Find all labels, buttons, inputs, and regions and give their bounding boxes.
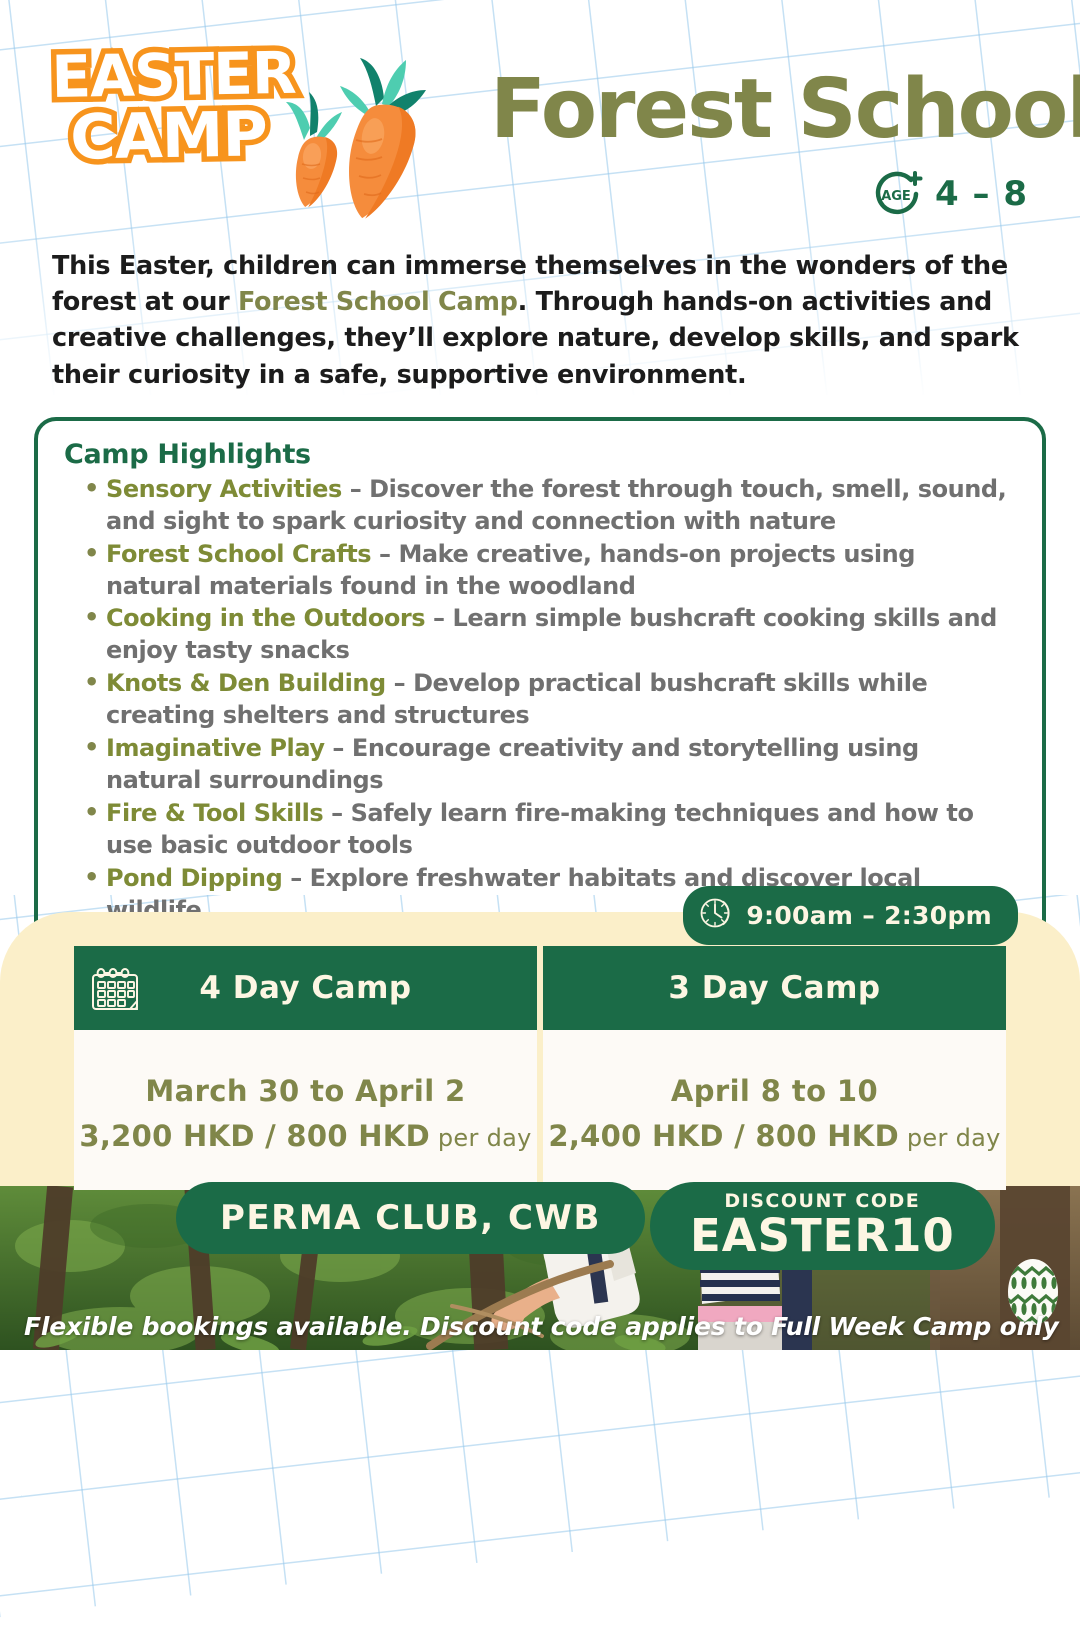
highlight-term: Pond Dipping	[106, 864, 282, 892]
pricing-column-4-day: 4 Day Camp March 30 to April 2 3,200 HKD…	[74, 946, 537, 1190]
list-item: Imaginative Play – Encourage creativity …	[64, 733, 1016, 797]
schedule-time-badge: 9:00am – 2:30pm	[683, 886, 1018, 945]
location-badge[interactable]: PERMA CLUB, CWB	[176, 1182, 645, 1254]
pricing-column-3-day: 3 Day Camp April 8 to 10 2,400 HKD / 800…	[543, 946, 1006, 1190]
easter-camp-logo: EASTER CAMP	[51, 46, 285, 167]
pricing-dates: April 8 to 10	[671, 1074, 878, 1108]
pricing-amount: 3,200 HKD / 800 HKD per day	[79, 1119, 531, 1153]
pricing-per-day: per day	[899, 1124, 1001, 1152]
pricing-amount: 2,400 HKD / 800 HKD per day	[548, 1119, 1000, 1153]
highlight-term: Cooking in the Outdoors	[106, 604, 425, 632]
pricing-dates: March 30 to April 2	[145, 1074, 465, 1108]
intro-paragraph: This Easter, children can immerse themse…	[52, 248, 1028, 393]
pricing-body-cell: April 8 to 10 2,400 HKD / 800 HKD per da…	[543, 1030, 1006, 1190]
clock-icon	[699, 895, 735, 936]
list-item: Sensory Activities – Discover the forest…	[64, 474, 1016, 538]
poster-header: EASTER CAMP	[0, 0, 1080, 240]
age-ring-icon: AGE	[871, 168, 923, 220]
schedule-time-label: 9:00am – 2:30pm	[746, 901, 992, 930]
highlight-term: Knots & Den Building	[106, 669, 386, 697]
carrots-illustration	[272, 48, 442, 228]
pricing-amount-value: 2,400 HKD / 800 HKD	[548, 1119, 899, 1153]
pricing-header-label: 3 Day Camp	[668, 970, 880, 1006]
highlight-term: Forest School Crafts	[106, 540, 371, 568]
calendar-icon	[86, 966, 144, 1019]
camp-highlights-title: Camp Highlights	[64, 439, 1016, 470]
pricing-body-cell: March 30 to April 2 3,200 HKD / 800 HKD …	[74, 1030, 537, 1190]
footer-note: Flexible bookings available. Discount co…	[24, 1312, 1059, 1341]
camp-highlights-box: Camp Highlights Sensory Activities – Dis…	[34, 417, 1046, 954]
logo-line-easter: EASTER	[51, 46, 284, 105]
pricing-header-cell: 4 Day Camp	[74, 946, 537, 1030]
camp-highlights-list: Sensory Activities – Discover the forest…	[64, 474, 1016, 927]
pricing-per-day: per day	[430, 1124, 532, 1152]
pricing-table: 4 Day Camp March 30 to April 2 3,200 HKD…	[74, 946, 1006, 1190]
pricing-header-label: 4 Day Camp	[199, 970, 411, 1006]
age-range-label: 4 – 8	[935, 174, 1028, 214]
list-item: Forest School Crafts – Make creative, ha…	[64, 539, 1016, 603]
highlight-term: Imaginative Play	[106, 734, 325, 762]
list-item: Cooking in the Outdoors – Learn simple b…	[64, 603, 1016, 667]
svg-text:AGE: AGE	[881, 189, 911, 204]
age-badge: AGE 4 – 8	[871, 168, 1028, 220]
discount-code-badge[interactable]: DISCOUNT CODE EASTER10	[650, 1182, 995, 1270]
highlight-term: Sensory Activities	[106, 475, 342, 503]
pricing-header-cell: 3 Day Camp	[543, 946, 1006, 1030]
discount-code-value: EASTER10	[690, 1213, 955, 1258]
highlight-term: Fire & Tool Skills	[106, 799, 323, 827]
logo-line-camp: CAMP	[52, 104, 285, 166]
pricing-amount-value: 3,200 HKD / 800 HKD	[79, 1119, 430, 1153]
page-title: Forest School	[490, 62, 1080, 157]
list-item: Fire & Tool Skills – Safely learn fire-m…	[64, 798, 1016, 862]
list-item: Knots & Den Building – Develop practical…	[64, 668, 1016, 732]
location-label: PERMA CLUB, CWB	[220, 1198, 601, 1238]
intro-highlight: Forest School Camp	[238, 287, 518, 317]
